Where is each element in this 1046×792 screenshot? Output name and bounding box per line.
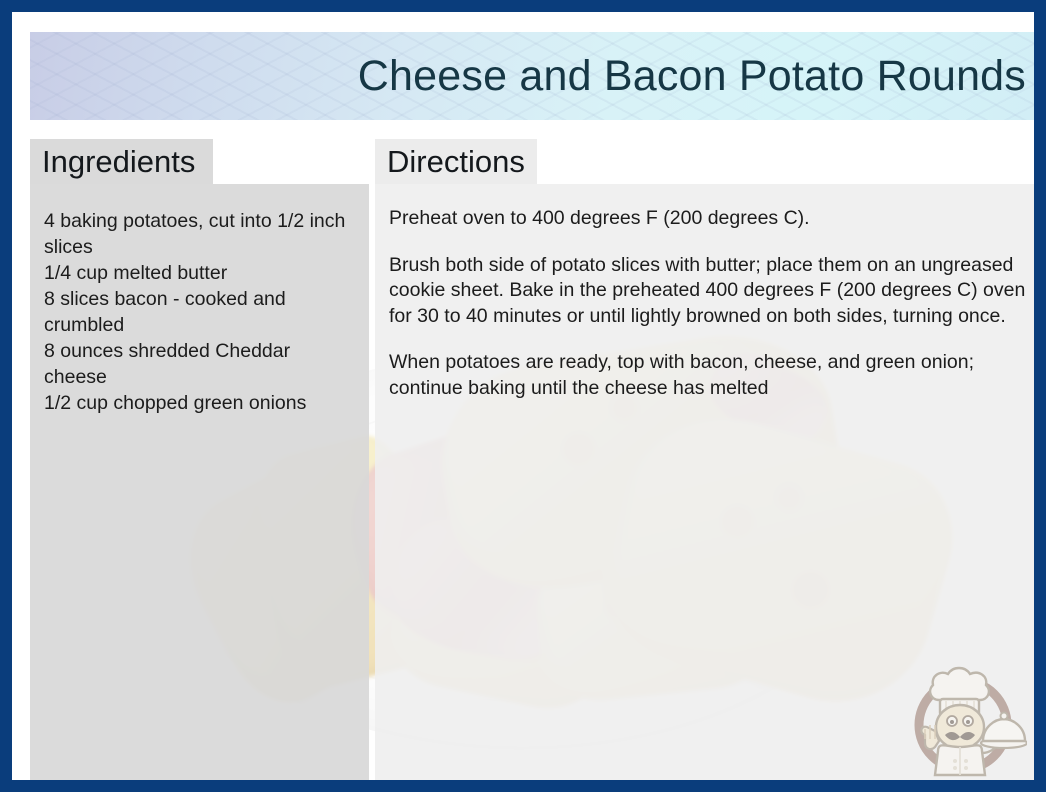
list-item: 1/4 cup melted butter bbox=[44, 260, 355, 286]
directions-heading: Directions bbox=[387, 144, 525, 180]
list-item: 8 slices bacon - cooked and crumbled bbox=[44, 286, 355, 338]
chef-logo bbox=[905, 655, 1027, 779]
list-item: 1/2 cup chopped green onions bbox=[44, 390, 355, 416]
recipe-card: Cheese and Bacon Potato Rounds Ingredien… bbox=[0, 0, 1046, 792]
ingredients-header-tab: Ingredients bbox=[30, 139, 213, 184]
directions-header-tab: Directions bbox=[375, 139, 537, 184]
direction-step: Brush both side of potato slices with bu… bbox=[389, 253, 1026, 330]
ingredients-panel: 4 baking potatoes, cut into 1/2 inch sli… bbox=[30, 184, 369, 789]
title-banner: Cheese and Bacon Potato Rounds bbox=[30, 32, 1042, 120]
chef-logo-icon bbox=[905, 655, 1027, 779]
direction-step: When potatoes are ready, top with bacon,… bbox=[389, 350, 1026, 401]
list-item: 8 ounces shredded Cheddar cheese bbox=[44, 338, 355, 390]
direction-step: Preheat oven to 400 degrees F (200 degre… bbox=[389, 206, 1026, 232]
list-item: 4 baking potatoes, cut into 1/2 inch sli… bbox=[44, 208, 355, 260]
recipe-title: Cheese and Bacon Potato Rounds bbox=[358, 52, 1026, 101]
ingredients-heading: Ingredients bbox=[42, 144, 195, 180]
directions-steps: Preheat oven to 400 degrees F (200 degre… bbox=[389, 206, 1026, 401]
ingredients-list: 4 baking potatoes, cut into 1/2 inch sli… bbox=[44, 208, 355, 416]
